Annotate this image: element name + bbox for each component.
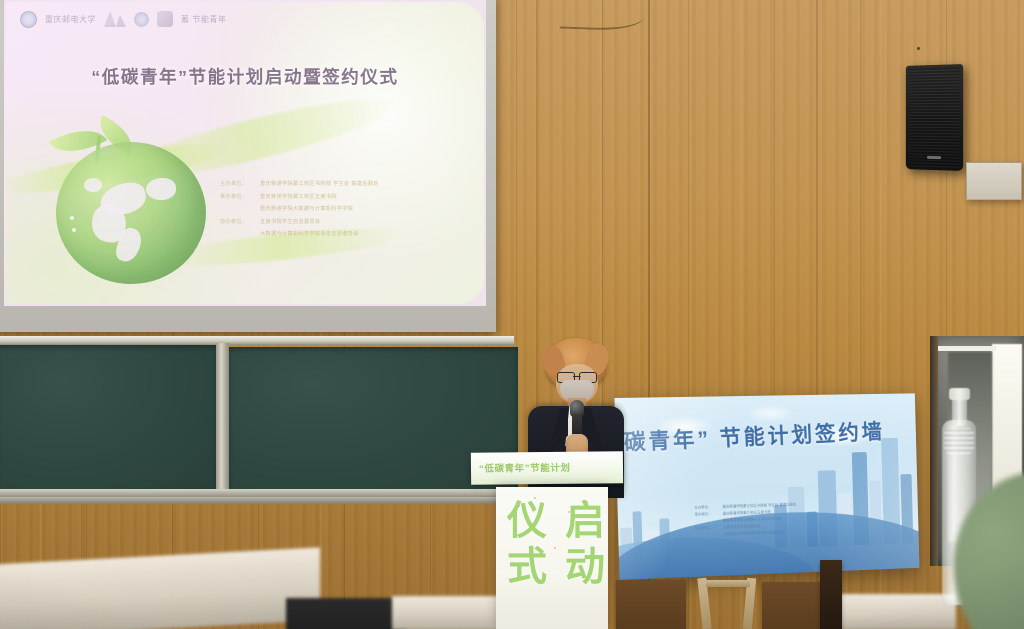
slide-credit-label: 主办单位： — [220, 178, 254, 191]
slide-credit-row: 协办单位： 五度书院学生自治委员会 — [220, 216, 444, 229]
chair-back — [820, 560, 842, 629]
slide-logo-sponsor-text: 蓄 节能青年 — [181, 14, 227, 25]
bottle-neck — [952, 396, 967, 426]
wall-access-panel — [966, 162, 1022, 200]
continent-shape — [84, 178, 102, 192]
foreground-desk — [392, 596, 510, 629]
speaker-grill — [909, 67, 960, 168]
slide-credit-label: 承办单位： — [220, 191, 254, 204]
slide-title: “低碳青年”节能计划启动暨签约仪式 — [6, 64, 484, 89]
globe-dot — [72, 228, 76, 232]
sponsor-mark-icon — [157, 11, 173, 27]
university-seal-icon — [20, 11, 37, 28]
chalkboard-divider — [216, 343, 229, 495]
banner-credits-block: 主办单位： 重庆移通学院綦江校区书院部 学生处 基建后勤处 承办单位： 重庆移通… — [694, 499, 875, 539]
presentation-slide: 重庆邮电大学 蓄 节能青年 “低碳青年”节能计划启动暨签约仪式 — [6, 2, 484, 304]
slide-credit-row: 主办单位： 重庆移通学院綦江校区书院部 学生处 基建后勤处 — [220, 178, 444, 191]
slide-credit-value: 大数据与计算机科学学院青年志愿者协会 — [220, 228, 444, 241]
bottle-ribs — [944, 428, 974, 454]
microphone-body — [572, 414, 582, 436]
podium: 启动仪式 — [496, 487, 608, 629]
chalkboard-panel-left — [0, 345, 218, 491]
slide-credit-value: 五度书院学生自治委员会 — [260, 216, 320, 229]
podium-top-banner-text: “低碳青年”节能计划 — [479, 459, 619, 474]
doorway-top-strip — [936, 346, 996, 351]
banner-credit-label: 承办单位： — [694, 511, 717, 519]
bottle-cap — [949, 388, 970, 400]
slide-logo-bar: 重庆邮电大学 蓄 节能青年 — [20, 6, 227, 32]
foreground-desk-shadow — [286, 598, 406, 629]
banner-credit-label: 协办单位： — [695, 525, 718, 533]
globe-dot — [70, 216, 74, 220]
slide-credit-value: 重庆移通学院大数据与计算机科学学院 — [220, 203, 444, 216]
globe-sphere — [56, 142, 206, 284]
green-earth-globe-icon — [34, 120, 214, 285]
wall-screw — [917, 47, 920, 50]
association-logo-icon — [104, 11, 126, 27]
slide-credits-block: 主办单位： 重庆移通学院綦江校区书院部 学生处 基建后勤处 承办单位： 重庆移通… — [220, 178, 444, 241]
wall-speaker-icon — [906, 64, 963, 171]
slide-credit-label: 协办单位： — [220, 216, 254, 229]
slide-credit-value: 重庆移通学院綦江校区五度书院 — [260, 191, 337, 204]
speaker-brand-logo — [927, 156, 941, 159]
chalkboard-top-rail — [0, 336, 514, 345]
signing-wall-banner: 碳青年” 节能计划签约墙 主办单位： 重庆移通学院綦江校区书院部 学生处 基建后… — [614, 393, 919, 580]
slide-logo-university-text: 重庆邮电大学 — [45, 14, 96, 25]
slide-credit-row: 承办单位： 重庆移通学院綦江校区五度书院 — [220, 191, 444, 204]
slide-credit-value: 重庆移通学院綦江校区书院部 学生处 基建后勤处 — [260, 178, 379, 191]
projection-screen-frame: 重庆邮电大学 蓄 节能青年 “低碳青年”节能计划启动暨签约仪式 — [0, 0, 496, 332]
chalkboard-tray-lower — [0, 497, 516, 504]
podium-top-banner: “低碳青年”节能计划 — [471, 451, 623, 485]
lecture-hall-scene: 重庆邮电大学 蓄 节能青年 “低碳青年”节能计划启动暨签约仪式 — [0, 0, 1024, 629]
sponsor-seal-icon — [134, 12, 149, 27]
projection-screen-surface: 重庆邮电大学 蓄 节能青年 “低碳青年”节能计划启动暨签约仪式 — [4, 0, 486, 306]
easel-crossbar — [706, 580, 750, 587]
continent-shape — [146, 178, 176, 200]
podium-vertical-text: 启动仪式 — [496, 499, 608, 629]
doorway-jamb — [930, 336, 938, 566]
foreground-desk — [836, 594, 956, 629]
wooden-chair — [616, 580, 686, 629]
